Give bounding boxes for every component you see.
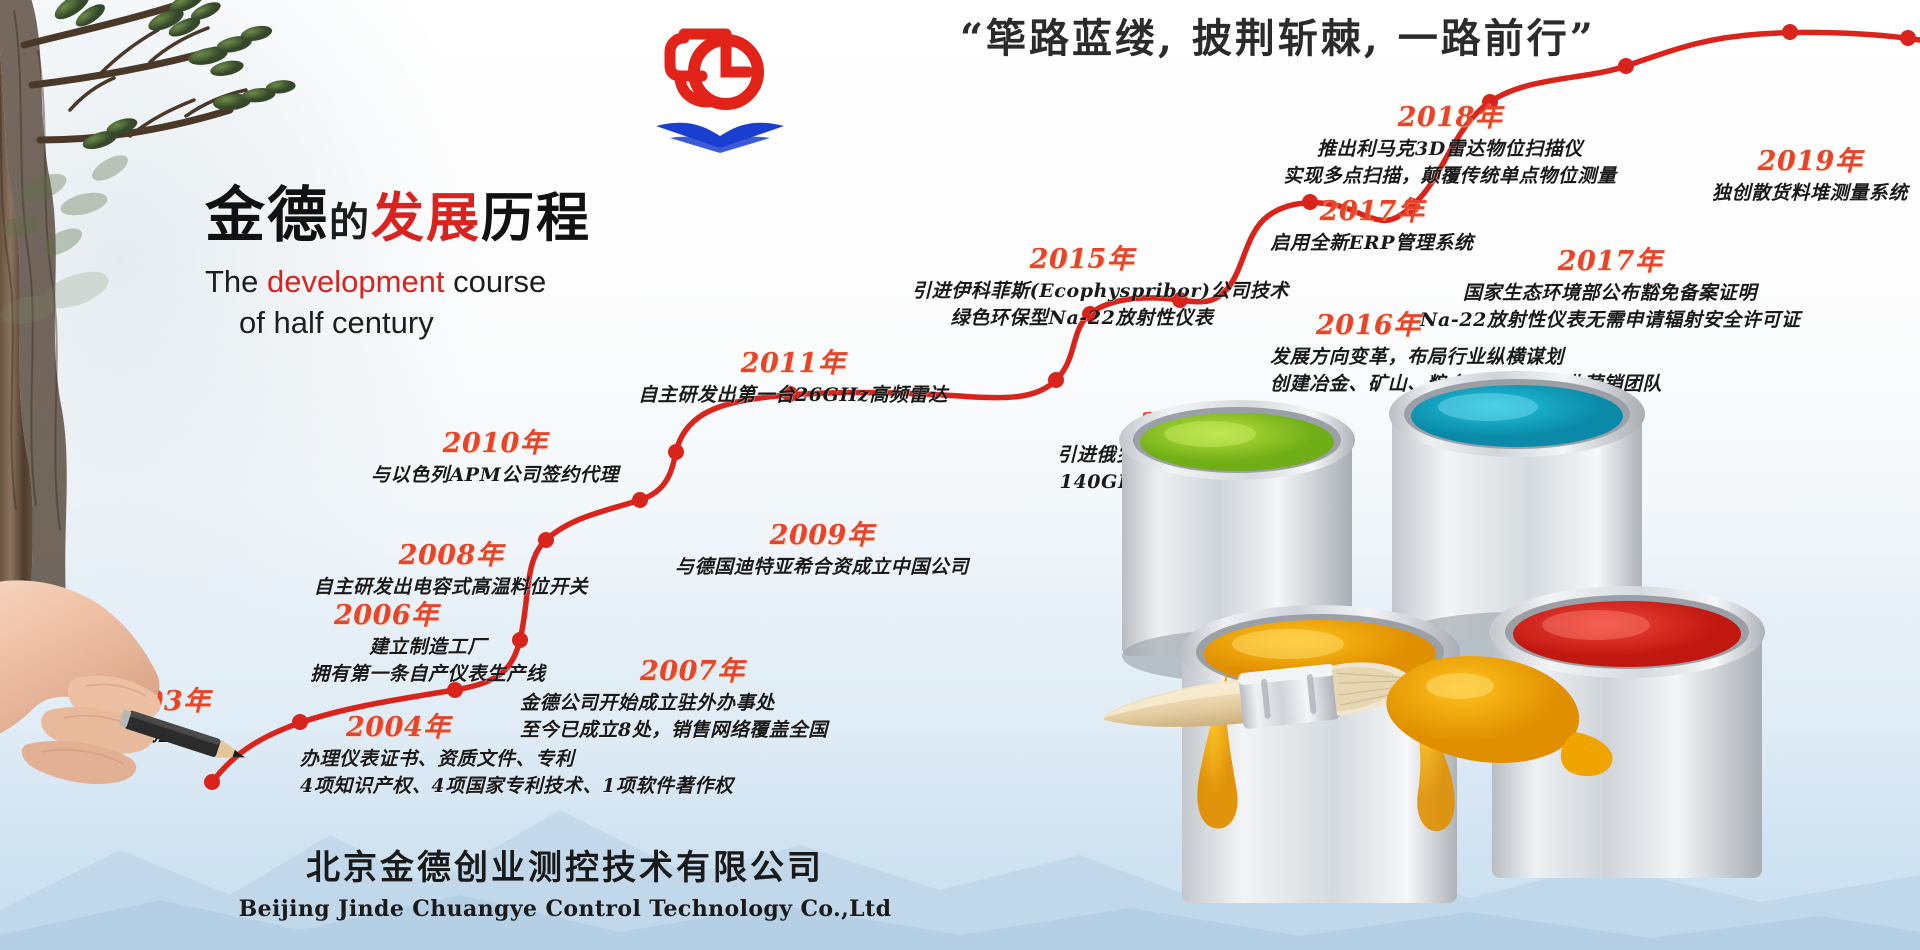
title-en-development: development (267, 264, 445, 299)
milestone-year: 2017年 (1222, 198, 1522, 226)
milestone-2009: 2009年 与德国迪特亚希合资成立中国公司 (652, 522, 992, 581)
milestone-line: 引进伊科菲斯(Ecophyspribor)公司技术 (912, 278, 1252, 305)
company-logo-icon (640, 22, 800, 157)
milestone-line: 至今已成立8处，销售网络覆盖全国 (520, 717, 900, 744)
milestone-2008: 2008年 自主研发出电容式高温料位开关 (286, 542, 616, 601)
milestone-year: 2010年 (330, 430, 660, 458)
title-en-line2: of half century (239, 303, 725, 344)
milestone-line: 推出利马克3D雷达物位扫描仪 (1240, 136, 1660, 163)
milestone-year: 2011年 (628, 350, 958, 378)
paint-cans-illustration (1050, 350, 1920, 910)
company-footer: 北京金德创业测控技术有限公司 Beijing Jinde Chuangye Co… (0, 840, 1130, 922)
title-cn-development: 发展 (371, 187, 481, 249)
milestone-line: 独创散货料堆测量系统 (1660, 180, 1920, 207)
footer-company-en: Beijing Jinde Chuangye Control Technolog… (0, 896, 1130, 922)
milestone-2018: 2018年 推出利马克3D雷达物位扫描仪 实现多点扫描，颠覆传统单点物位测量 (1240, 104, 1660, 190)
milestone-line: 4项知识产权、4项国家专利技术、1项软件著作权 (300, 773, 720, 800)
milestone-2019: 2019年 独创散货料堆测量系统 (1660, 148, 1920, 207)
milestone-line: 办理仪表证书、资质文件、专利 (300, 746, 720, 773)
milestone-year: 2017年 (1420, 248, 1800, 276)
milestone-line: Na-22放射性仪表无需申请辐射安全许可证 (1420, 307, 1800, 334)
title-en-course: course (445, 264, 547, 299)
milestone-year: 2006年 (288, 602, 568, 630)
footer-company-cn: 北京金德创业测控技术有限公司 (0, 840, 1130, 889)
title-cn-de: 的 (329, 199, 371, 246)
title-cn-course: 历程 (481, 187, 591, 249)
milestone-line: 与德国迪特亚希合资成立中国公司 (652, 554, 992, 581)
milestone-year: 2008年 (286, 542, 616, 570)
milestone-line: 与以色列APM公司签约代理 (330, 462, 660, 489)
milestone-line: 国家生态环境部公布豁免备案证明 (1420, 280, 1800, 307)
milestone-year: 2007年 (520, 658, 900, 686)
milestone-year: 2009年 (652, 522, 992, 550)
milestone-2017-exemption: 2017年 国家生态环境部公布豁免备案证明 Na-22放射性仪表无需申请辐射安全… (1420, 248, 1800, 334)
milestone-year: 2018年 (1240, 104, 1660, 132)
title-cn-brand: 金德 (205, 181, 329, 251)
milestone-2015: 2015年 引进伊科菲斯(Ecophyspribor)公司技术 绿色环保型Na-… (912, 246, 1252, 332)
milestone-year: 2015年 (912, 246, 1252, 274)
milestone-line: 绿色环保型Na-22放射性仪表 (912, 305, 1252, 332)
hand-with-pencil-illustration (0, 560, 310, 820)
slogan-text: “筚路蓝缕, 披荆斩棘, 一路前行” (960, 6, 1790, 64)
milestone-2010: 2010年 与以色列APM公司签约代理 (330, 430, 660, 489)
milestone-line: 自主研发出第一台26GHz高频雷达 (628, 382, 958, 409)
milestone-line: 自主研发出电容式高温料位开关 (286, 574, 616, 601)
milestone-year: 2019年 (1660, 148, 1920, 176)
milestone-line: 金德公司开始成立驻外办事处 (520, 690, 900, 717)
milestone-2011: 2011年 自主研发出第一台26GHz高频雷达 (628, 350, 958, 409)
title-en-the: The (205, 264, 267, 299)
milestone-2007: 2007年 金德公司开始成立驻外办事处 至今已成立8处，销售网络覆盖全国 (520, 658, 900, 744)
page-title: 金德的发展历程 The development course of half c… (205, 185, 725, 344)
milestone-line: 实现多点扫描，颠覆传统单点物位测量 (1240, 163, 1660, 190)
poster-canvas: “筚路蓝缕, 披荆斩棘, 一路前行” 金德的发展历程 The developme… (0, 0, 1920, 950)
